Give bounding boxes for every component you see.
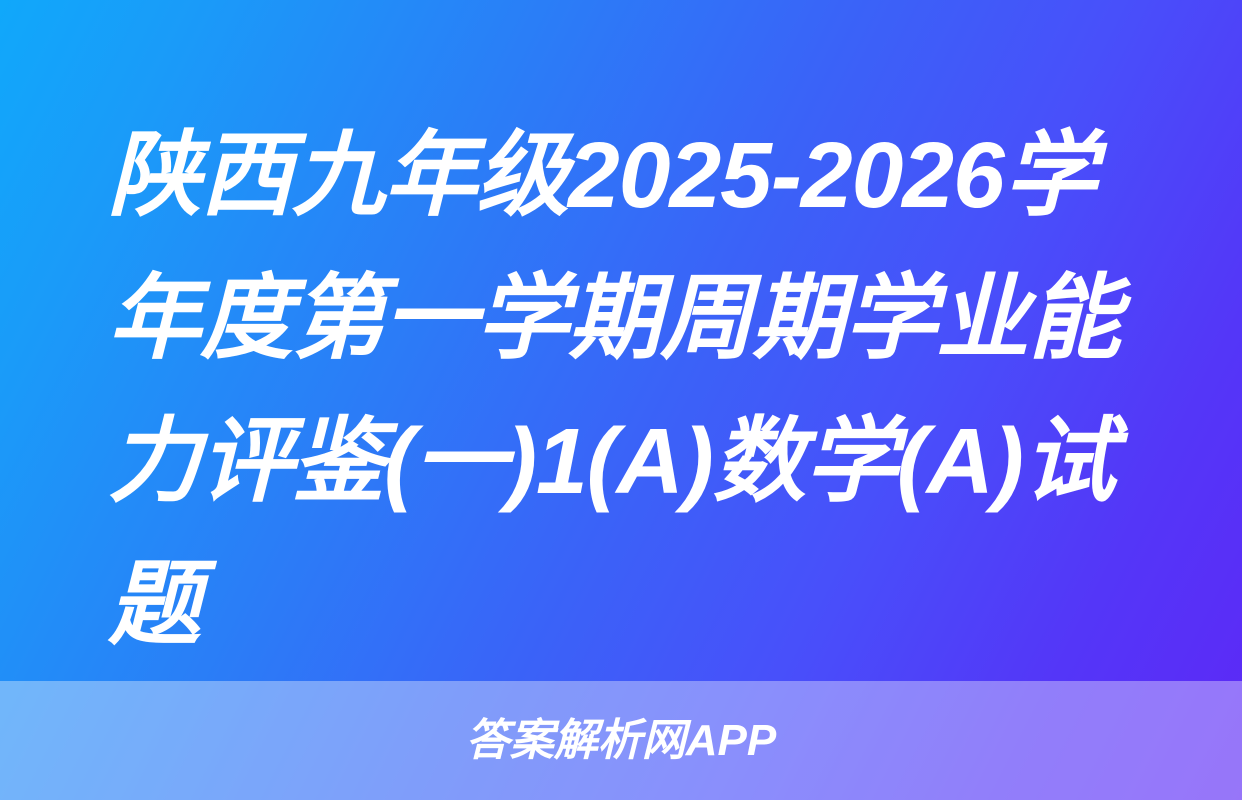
app-promo-label: 答案解析网APP <box>466 719 776 763</box>
page-title: 陕西九年级2025-2026学年度第一学期周期学业能力评鉴(一)1(A)数学(A… <box>108 104 1168 676</box>
app-promo-banner[interactable]: 答案解析网APP <box>0 681 1242 800</box>
exam-cover-card: 陕西九年级2025-2026学年度第一学期周期学业能力评鉴(一)1(A)数学(A… <box>0 0 1242 800</box>
